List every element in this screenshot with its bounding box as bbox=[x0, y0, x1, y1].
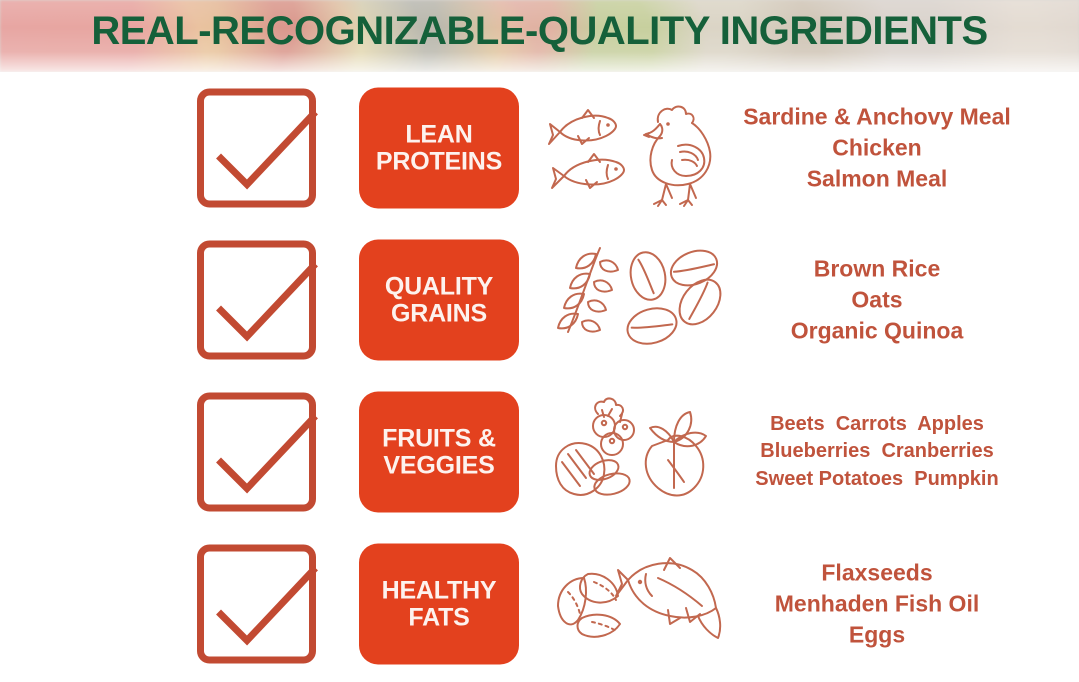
ingredient-list-lean-proteins: Sardine & Anchovy Meal Chicken Salmon Me… bbox=[712, 101, 1042, 194]
ingredient-item: Chicken bbox=[712, 132, 1042, 163]
ingredient-list-healthy-fats: Flaxseeds Menhaden Fish Oil Eggs bbox=[712, 557, 1042, 650]
label-text: LEAN PROTEINS bbox=[370, 122, 508, 175]
label-box-fruits-veggies[interactable]: FRUITS & VEGGIES bbox=[359, 392, 519, 513]
ingredient-item: Menhaden Fish Oil bbox=[712, 588, 1042, 619]
ingredient-rows: LEAN PROTEINS bbox=[0, 72, 1079, 680]
label-text: FRUITS & VEGGIES bbox=[376, 426, 502, 479]
ingredient-item: Sweet Potatoes Pumpkin bbox=[712, 466, 1042, 493]
wheat-and-grains-icon bbox=[548, 240, 728, 360]
ingredient-row-quality-grains: QUALITY GRAINS bbox=[0, 224, 1079, 376]
ingredient-item: Oats bbox=[712, 284, 1042, 315]
ingredient-list-quality-grains: Brown Rice Oats Organic Quinoa bbox=[712, 253, 1042, 346]
fish-and-chicken-icon bbox=[548, 88, 728, 208]
ingredient-item: Blueberries Cranberries bbox=[712, 438, 1042, 465]
ingredient-item: Sardine & Anchovy Meal bbox=[712, 101, 1042, 132]
checkbox-lean-proteins[interactable] bbox=[197, 89, 316, 208]
ingredient-row-fruits-veggies: FRUITS & VEGGIES bbox=[0, 376, 1079, 528]
label-text: HEALTHY FATS bbox=[376, 578, 503, 631]
sweet-potato-berries-beet-icon bbox=[548, 392, 728, 512]
ingredient-list-fruits-veggies: Beets Carrots Apples Blueberries Cranber… bbox=[712, 411, 1042, 493]
label-box-healthy-fats[interactable]: HEALTHY FATS bbox=[359, 544, 519, 665]
label-box: FRUITS & VEGGIES bbox=[359, 392, 519, 513]
infographic-page: REAL-RECOGNIZABLE-QUALITY INGREDIENTS LE… bbox=[0, 0, 1079, 682]
label-box: LEAN PROTEINS bbox=[359, 88, 519, 209]
checkmark-icon bbox=[197, 393, 316, 512]
checkmark-icon bbox=[197, 89, 316, 208]
ingredient-item: Organic Quinoa bbox=[712, 316, 1042, 347]
label-box-quality-grains[interactable]: QUALITY GRAINS bbox=[359, 240, 519, 361]
label-text: QUALITY GRAINS bbox=[379, 274, 499, 327]
label-box-lean-proteins[interactable]: LEAN PROTEINS bbox=[359, 88, 519, 209]
checkbox-quality-grains[interactable] bbox=[197, 241, 316, 360]
ingredient-item: Beets Carrots Apples bbox=[712, 411, 1042, 438]
checkmark-icon bbox=[197, 241, 316, 360]
checkbox-healthy-fats[interactable] bbox=[197, 545, 316, 664]
ingredient-item: Brown Rice bbox=[712, 253, 1042, 284]
label-box: QUALITY GRAINS bbox=[359, 240, 519, 361]
ingredient-item: Flaxseeds bbox=[712, 557, 1042, 588]
ingredient-item: Salmon Meal bbox=[712, 164, 1042, 195]
ingredient-row-healthy-fats: HEALTHY FATS bbox=[0, 528, 1079, 680]
ingredient-item: Eggs bbox=[712, 620, 1042, 651]
flaxseeds-and-fish-icon bbox=[548, 544, 728, 664]
header-banner: REAL-RECOGNIZABLE-QUALITY INGREDIENTS bbox=[0, 0, 1079, 72]
checkmark-icon bbox=[197, 545, 316, 664]
checkbox-fruits-veggies[interactable] bbox=[197, 393, 316, 512]
ingredient-row-lean-proteins: LEAN PROTEINS bbox=[0, 72, 1079, 224]
label-box: HEALTHY FATS bbox=[359, 544, 519, 665]
page-title: REAL-RECOGNIZABLE-QUALITY INGREDIENTS bbox=[0, 9, 1079, 54]
